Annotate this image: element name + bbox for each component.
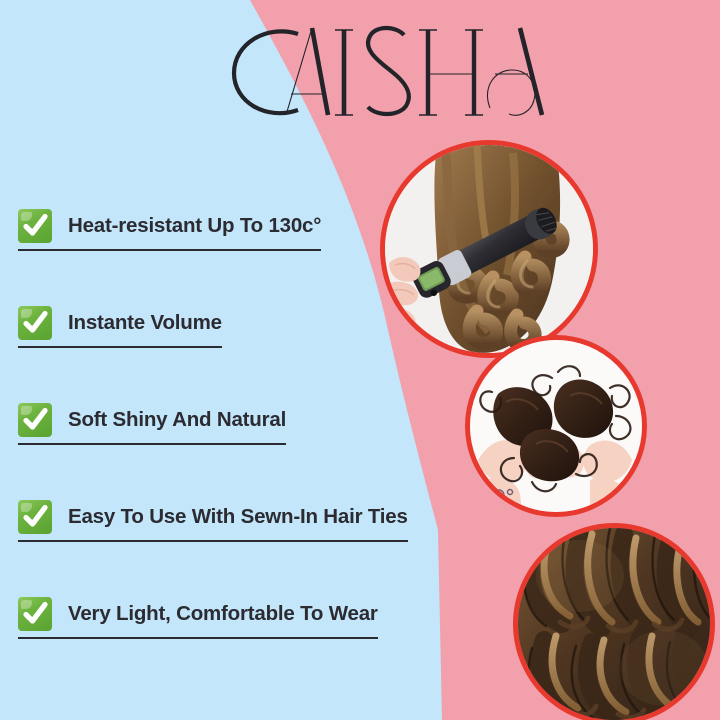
feature-item-heat-resistant: Heat-resistant Up To 130c° [18, 205, 321, 251]
brand-logo-wordmark [228, 18, 548, 123]
feature-item-soft-shiny-natural: Soft Shiny And Natural [18, 399, 286, 445]
feature-item-sewn-in-hair-ties: Easy To Use With Sewn-In Hair Ties [18, 496, 408, 542]
photo-hair-bundles [470, 340, 642, 512]
feature-label: Heat-resistant Up To 130c° [68, 216, 321, 237]
green-check-icon [18, 306, 52, 340]
logo-letter-a-2 [487, 28, 542, 115]
product-feature-poster: Heat-resistant Up To 130c° Instante Volu… [0, 0, 720, 720]
feature-label: Instante Volume [68, 313, 222, 334]
brand-logo [228, 18, 548, 123]
logo-letter-i [335, 30, 353, 115]
feature-item-instant-volume: Instante Volume [18, 302, 222, 348]
feature-label: Easy To Use With Sewn-In Hair Ties [68, 507, 408, 528]
feature-item-very-light-comfortable: Very Light, Comfortable To Wear [18, 593, 378, 639]
logo-letter-s [368, 28, 409, 114]
feature-label: Very Light, Comfortable To Wear [68, 604, 378, 625]
green-check-icon [18, 403, 52, 437]
green-check-icon [18, 597, 52, 631]
logo-letter-h [419, 30, 483, 115]
feature-list: Heat-resistant Up To 130c° Instante Volu… [18, 205, 448, 639]
green-check-icon [18, 209, 52, 243]
logo-letter-c [234, 31, 298, 113]
feature-label: Soft Shiny And Natural [68, 410, 286, 431]
photo-curl-texture [518, 528, 710, 720]
logo-letter-a-1 [286, 28, 328, 115]
green-check-icon [18, 500, 52, 534]
